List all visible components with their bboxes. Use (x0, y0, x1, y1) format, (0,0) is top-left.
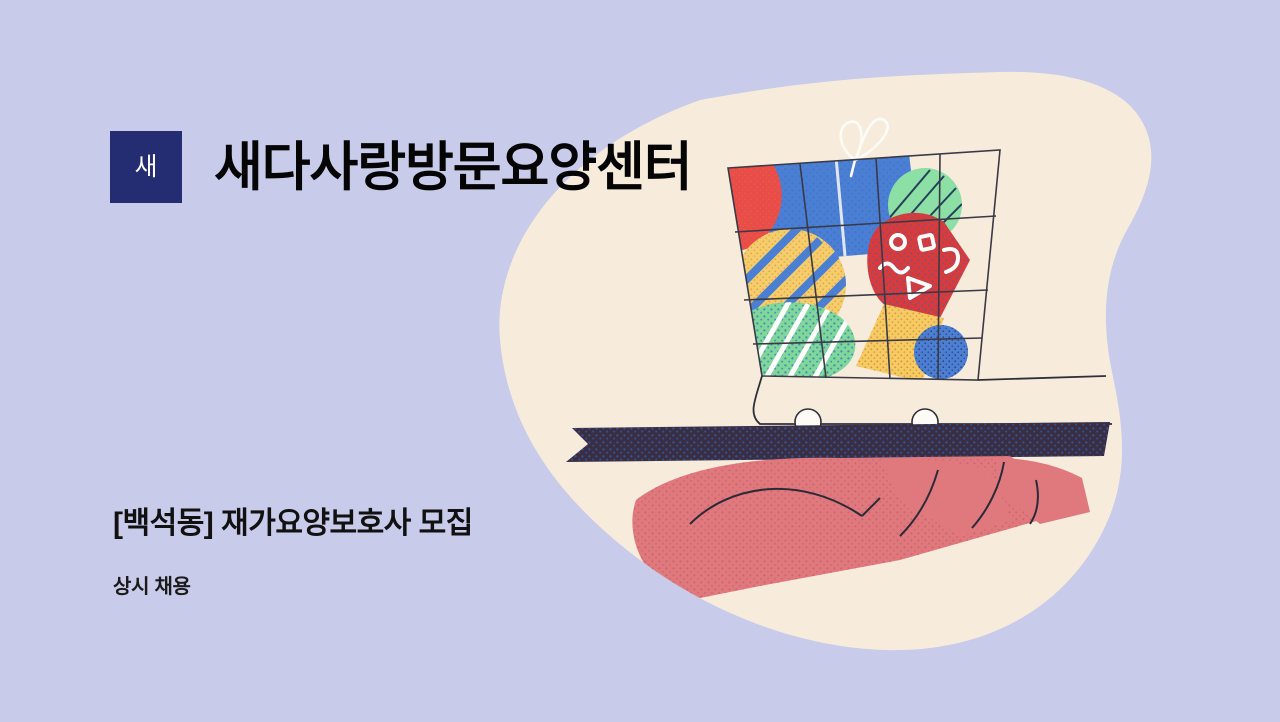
blue-speckled-sphere (914, 325, 968, 379)
brand-header: 새 새다사랑방문요양센터 (110, 130, 692, 204)
company-logo-badge: 새 (110, 131, 182, 203)
job-info-block: [백석동] 재가요양보호사 모집 상시 채용 (113, 505, 473, 600)
job-posting-title: [백석동] 재가요양보호사 모집 (113, 505, 473, 543)
job-posting-card: 새 새다사랑방문요양센터 [백석동] 재가요양보호사 모집 상시 채용 (0, 0, 1280, 722)
dark-counter-bar (566, 422, 1110, 462)
job-recruitment-status: 상시 채용 (113, 575, 473, 600)
company-name: 새다사랑방문요양센터 (214, 141, 692, 194)
shopping-cart-illustration (0, 0, 1280, 722)
